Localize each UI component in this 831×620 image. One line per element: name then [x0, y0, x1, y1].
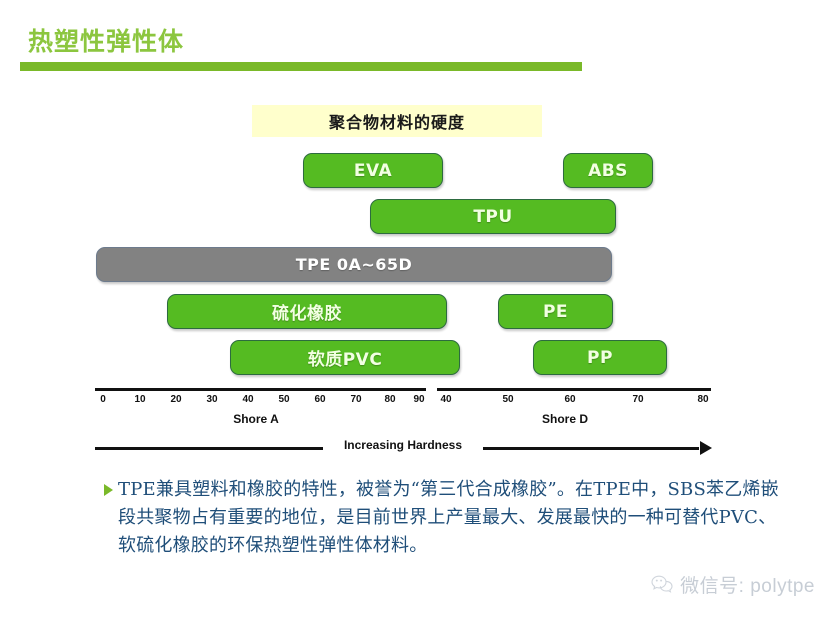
chart-title-box: 聚合物材料的硬度 — [252, 105, 542, 137]
bar-pe[interactable]: PE — [498, 294, 613, 329]
axis-name-shore-d: Shore D — [542, 412, 588, 426]
watermark-text: 微信号: polytpe — [680, 571, 815, 598]
bullet-triangle-icon — [104, 484, 113, 496]
bar-abs[interactable]: ABS — [563, 153, 653, 188]
bar-label: 硫化橡胶 — [272, 299, 342, 324]
tick-shore-a-60: 60 — [314, 394, 325, 405]
bar-label: TPE 0A~65D — [296, 255, 413, 274]
bar-label: ABS — [588, 161, 628, 181]
bar-label: EVA — [354, 161, 392, 181]
hardness-line-left — [95, 447, 323, 450]
bar-tpu[interactable]: TPU — [370, 199, 616, 234]
tick-shore-a-30: 30 — [206, 394, 217, 405]
arrow-right-icon — [700, 441, 712, 455]
chart-axes: 0 10 20 30 40 50 60 70 80 90 Shore A 40 … — [0, 388, 831, 470]
tick-shore-a-70: 70 — [350, 394, 361, 405]
bar-pp[interactable]: PP — [533, 340, 667, 375]
tick-shore-a-20: 20 — [170, 394, 181, 405]
tick-shore-d-40: 40 — [440, 394, 451, 405]
tick-shore-a-50: 50 — [278, 394, 289, 405]
tick-shore-a-0: 0 — [100, 394, 106, 405]
increasing-hardness-label: Increasing Hardness — [344, 438, 462, 452]
bar-tpe[interactable]: TPE 0A~65D — [96, 247, 612, 282]
increasing-hardness-indicator: Increasing Hardness — [95, 438, 711, 458]
axis-line-shore-a — [95, 388, 426, 391]
bar-soft-pvc[interactable]: 软质PVC — [230, 340, 460, 375]
bar-label: TPU — [473, 207, 512, 227]
tick-shore-a-80: 80 — [384, 394, 395, 405]
page-title: 热塑性弹性体 — [28, 22, 184, 58]
tick-shore-a-90: 90 — [413, 394, 424, 405]
bar-label: PE — [543, 302, 568, 322]
bar-vulcanized-rubber[interactable]: 硫化橡胶 — [167, 294, 447, 329]
wechat-icon — [651, 575, 673, 594]
bar-label: PP — [587, 348, 613, 368]
tick-shore-d-50: 50 — [502, 394, 513, 405]
bar-eva[interactable]: EVA — [303, 153, 443, 188]
chart-title: 聚合物材料的硬度 — [329, 109, 465, 133]
tick-shore-d-60: 60 — [564, 394, 575, 405]
axis-name-shore-a: Shore A — [233, 412, 279, 426]
bar-label: 软质PVC — [308, 345, 383, 370]
hardness-line-right — [483, 447, 699, 450]
tick-shore-a-40: 40 — [242, 394, 253, 405]
body-paragraph-block: TPE兼具塑料和橡胶的特性，被誉为“第三代合成橡胶”。在TPE中，SBS苯乙烯嵌… — [104, 476, 784, 560]
title-underline-rule — [20, 62, 582, 71]
body-paragraph: TPE兼具塑料和橡胶的特性，被誉为“第三代合成橡胶”。在TPE中，SBS苯乙烯嵌… — [104, 476, 784, 560]
tick-shore-d-80: 80 — [697, 394, 708, 405]
axis-line-shore-d — [437, 388, 711, 391]
hardness-chart: 聚合物材料的硬度 EVA ABS TPU TPE 0A~65D 硫化橡胶 PE … — [0, 95, 831, 470]
tick-shore-d-70: 70 — [632, 394, 643, 405]
tick-shore-a-10: 10 — [134, 394, 145, 405]
watermark: 微信号: polytpe — [651, 571, 815, 598]
